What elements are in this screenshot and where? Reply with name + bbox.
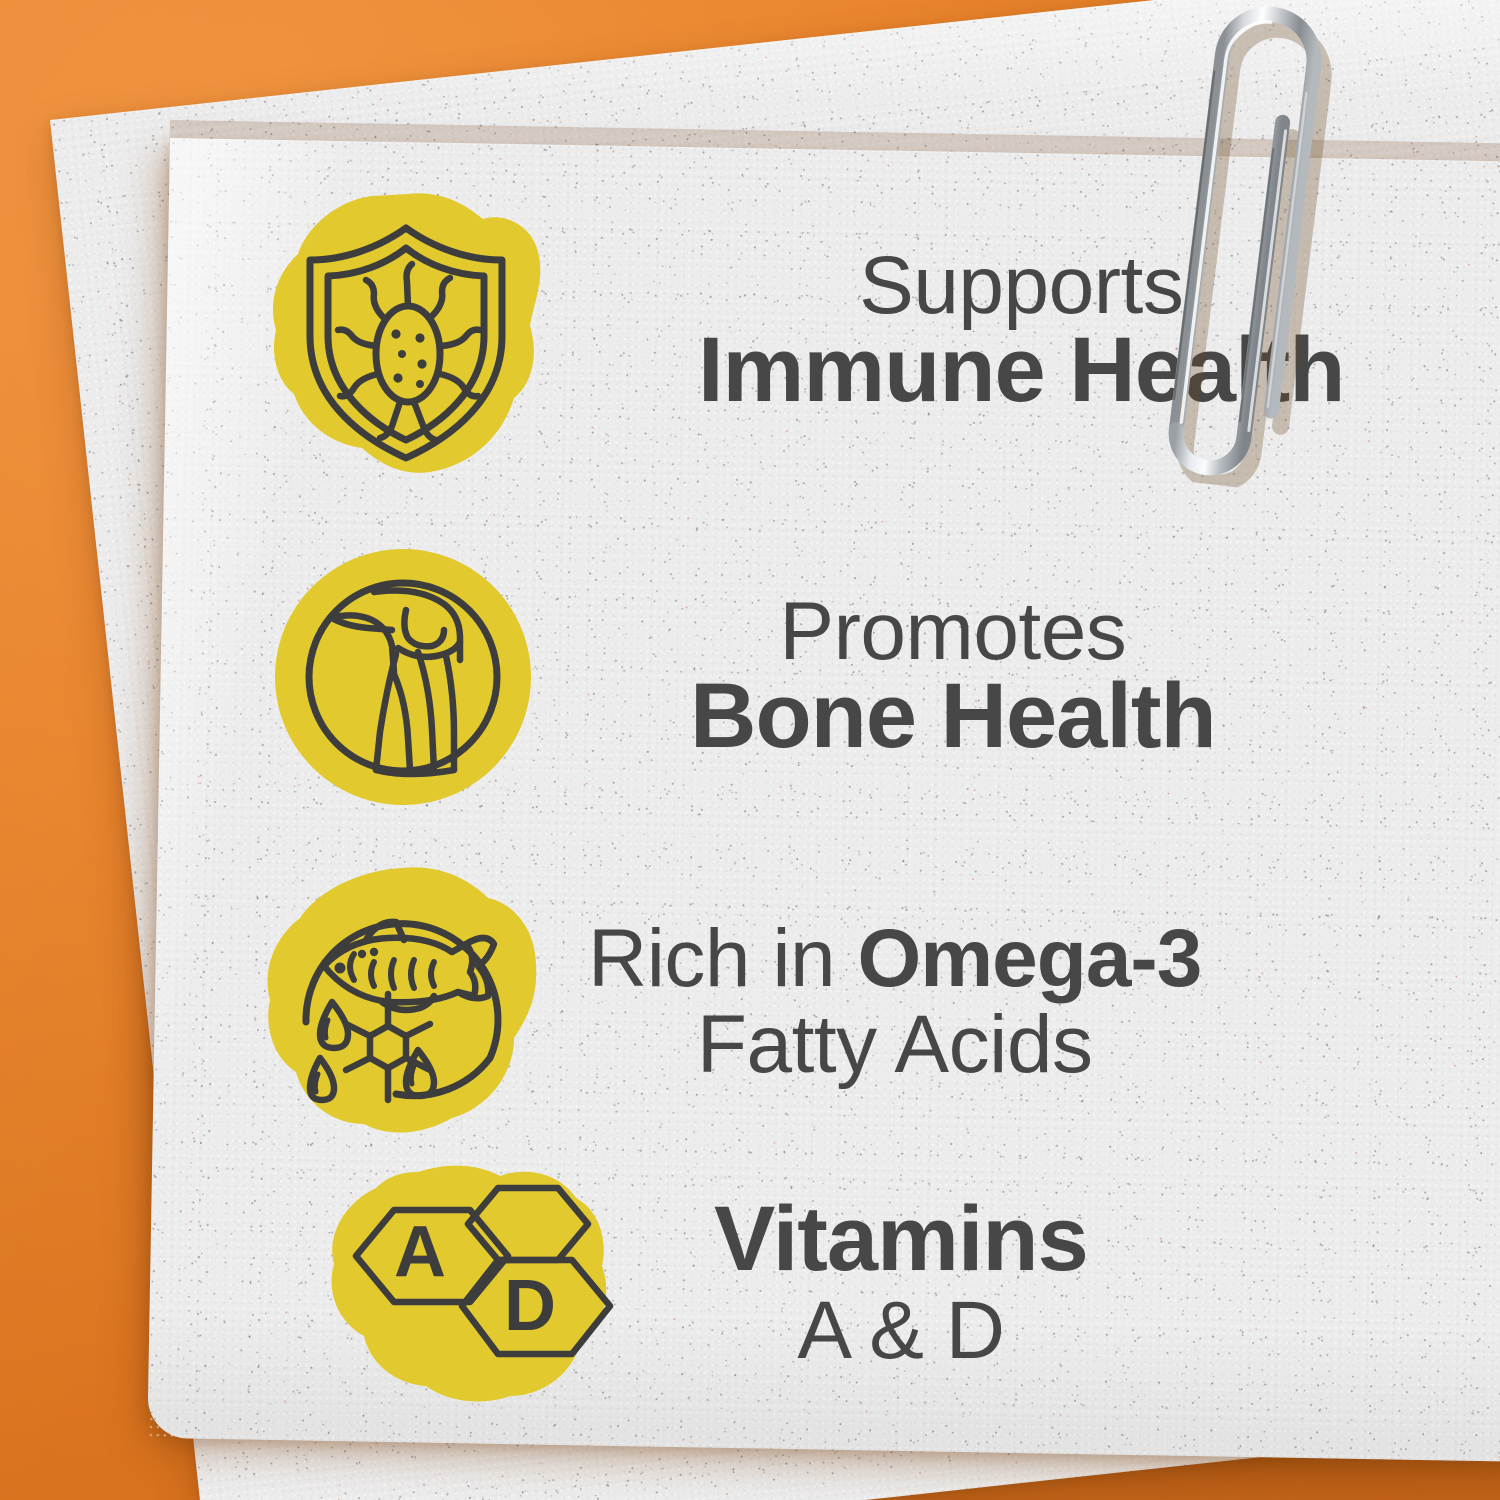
benefit-line1-vitamins: Vitamins — [714, 1193, 1088, 1287]
hex-letter-d: D — [504, 1266, 556, 1346]
benefit-line1-omega: Rich in Omega-3 — [588, 917, 1201, 1001]
knee-joint-bone-icon — [268, 542, 538, 812]
benefit-row-omega: Rich in Omega-3 Fatty Acids — [262, 862, 1201, 1142]
infographic-canvas: Supports Immune Health — [0, 0, 1500, 1500]
shield-germ-icon — [262, 186, 552, 476]
benefit-line1-bone: Promotes — [690, 590, 1216, 674]
benefit-line2-bone: Bone Health — [690, 670, 1216, 764]
hexagon-vitamins-icon: A D — [322, 1158, 622, 1408]
benefit-label-omega: Rich in Omega-3 Fatty Acids — [588, 917, 1201, 1086]
fish-oil-molecule-icon — [262, 862, 542, 1142]
benefit-line2-omega: Fatty Acids — [588, 1003, 1201, 1087]
benefit-label-bone: Promotes Bone Health — [690, 590, 1216, 763]
benefit-line1-prefix-omega: Rich in — [588, 913, 857, 1004]
paperclip-icon — [1119, 0, 1500, 517]
benefit-line1-bold-omega: Omega-3 — [857, 913, 1201, 1004]
hex-letter-a: A — [394, 1212, 446, 1292]
benefit-label-vitamins: Vitamins A & D — [714, 1193, 1088, 1372]
benefit-row-bone: Promotes Bone Health — [268, 542, 1216, 812]
benefit-line2-vitamins: A & D — [714, 1289, 1088, 1373]
benefit-row-vitamins: A D Vitamins A & D — [322, 1158, 1088, 1408]
